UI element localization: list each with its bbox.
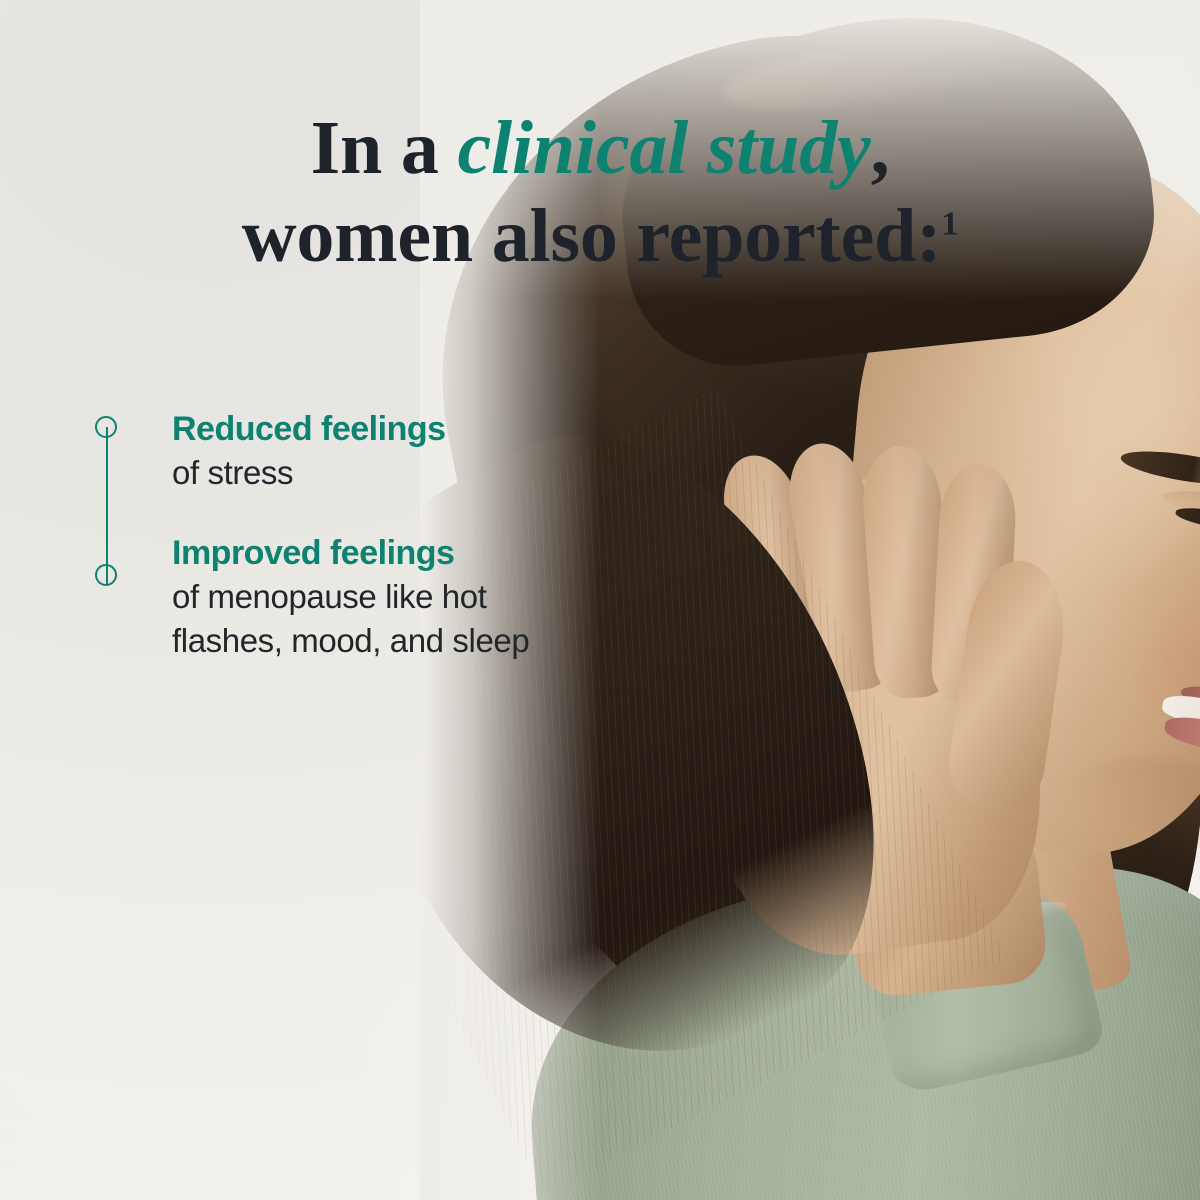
rail-dot-icon-first xyxy=(95,416,117,438)
promo-canvas: In a clinical study, women also reported… xyxy=(0,0,1200,1200)
benefit-item-stress: Reduced feelings of stress xyxy=(172,408,564,494)
benefit-list: Reduced feelings of stress Improved feel… xyxy=(172,408,564,662)
headline-suffix: , xyxy=(871,106,890,190)
benefit-heading: Improved feelings xyxy=(172,532,564,575)
benefit-body: of stress xyxy=(172,451,564,495)
benefit-body: of menopause like hot flashes, mood, and… xyxy=(172,575,564,662)
page-title: In a clinical study, women also reported… xyxy=(0,104,1200,280)
headline-line-2: women also reported:1 xyxy=(0,192,1200,280)
headline-line2-text: women also reported: xyxy=(242,194,942,278)
benefit-heading: Reduced feelings xyxy=(172,408,564,451)
benefit-item-menopause: Improved feelings of menopause like hot … xyxy=(172,532,564,662)
rail-connector-line xyxy=(106,427,108,585)
headline-line-1: In a clinical study, xyxy=(0,104,1200,192)
rail-dot-icon-second xyxy=(95,564,117,586)
benefit-timeline-rail xyxy=(95,416,119,596)
footnote-marker: 1 xyxy=(941,206,958,243)
headline-emphasis: clinical study xyxy=(457,106,870,190)
headline-prefix: In a xyxy=(311,106,458,190)
